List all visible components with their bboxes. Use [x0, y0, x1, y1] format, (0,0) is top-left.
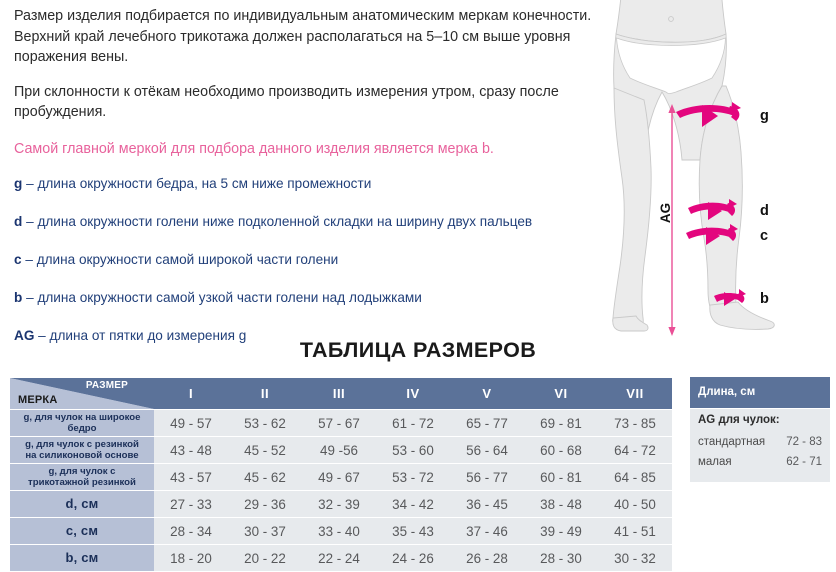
- cell-value: 53 - 72: [376, 464, 450, 490]
- table-row: c, см 28 - 34 30 - 37 33 - 40 35 - 43 37…: [10, 518, 672, 544]
- row-label-line: g, для чулок с резинкой: [16, 439, 148, 451]
- cell-value: 43 - 57: [154, 464, 228, 490]
- cell-value: 61 - 72: [376, 410, 450, 436]
- legend-dash-b: –: [26, 290, 34, 305]
- row-label-b: b, см: [10, 545, 154, 571]
- length-row-small: малая 62 - 71: [698, 456, 822, 468]
- legend-text-c: длина окружности самой широкой части гол…: [37, 252, 339, 267]
- cell-value: 30 - 32: [598, 545, 672, 571]
- legend-key-d: d: [14, 214, 22, 229]
- cell-value: 28 - 34: [154, 518, 228, 544]
- row-label-line: бедро: [16, 423, 148, 435]
- legend-dash-d: –: [26, 214, 34, 229]
- row-label-g-silicone-band: g, для чулок с резинкой на силиконовой о…: [10, 437, 154, 463]
- cell-value: 45 - 62: [228, 464, 302, 490]
- length-row-value: 72 - 83: [786, 436, 822, 448]
- cell-value: 43 - 48: [154, 437, 228, 463]
- legend-item-b: b – длина окружности самой узкой части г…: [14, 288, 610, 307]
- cell-value: 28 - 30: [524, 545, 598, 571]
- cell-value: 33 - 40: [302, 518, 376, 544]
- intro-paragraph-1: Размер изделия подбирается по индивидуал…: [14, 6, 610, 68]
- legend-key-c: c: [14, 252, 22, 267]
- cell-value: 29 - 36: [228, 491, 302, 517]
- column-header-4: IV: [376, 378, 450, 409]
- length-panel-subtitle: AG для чулок:: [698, 414, 822, 426]
- row-label-d: d, см: [10, 491, 154, 517]
- cell-value: 60 - 81: [524, 464, 598, 490]
- length-row-standard: стандартная 72 - 83: [698, 436, 822, 448]
- length-side-panel: Длина, см AG для чулок: стандартная 72 -…: [690, 377, 830, 482]
- length-panel-body: AG для чулок: стандартная 72 - 83 малая …: [690, 409, 830, 482]
- legend-text-b: длина окружности самой узкой части голен…: [37, 290, 421, 305]
- page-title: ТАБЛИЦА РАЗМЕРОВ: [0, 338, 836, 363]
- column-header-2: II: [228, 378, 302, 409]
- cell-value: 49 - 67: [302, 464, 376, 490]
- legend-item-c: c – длина окружности самой широкой части…: [14, 250, 610, 269]
- cell-value: 22 - 24: [302, 545, 376, 571]
- row-label-line: трикотажной резинкой: [16, 477, 148, 489]
- cell-value: 37 - 46: [450, 518, 524, 544]
- cell-value: 36 - 45: [450, 491, 524, 517]
- row-label-c: c, см: [10, 518, 154, 544]
- length-panel-header: Длина, см: [690, 377, 830, 408]
- table-corner-cell: РАЗМЕР МЕРКА: [10, 378, 154, 409]
- legend-text-g: длина окружности бедра, на 5 см ниже про…: [37, 176, 371, 191]
- cell-value: 73 - 85: [598, 410, 672, 436]
- d-label: d: [760, 203, 769, 219]
- legend-text-d: длина окружности голени ниже подколенной…: [37, 214, 532, 229]
- female-body-silhouette: [613, 0, 775, 331]
- measurement-illustration: AG g d c: [600, 0, 836, 340]
- ag-label: AG: [658, 203, 673, 223]
- cell-value: 60 - 68: [524, 437, 598, 463]
- legend-key-b: b: [14, 290, 22, 305]
- legend-dash-g: –: [26, 176, 34, 191]
- cell-value: 34 - 42: [376, 491, 450, 517]
- column-header-6: VI: [524, 378, 598, 409]
- cell-value: 53 - 62: [228, 410, 302, 436]
- g-label: g: [760, 108, 769, 124]
- corner-measure-label: МЕРКА: [18, 394, 58, 406]
- c-label: c: [760, 228, 768, 244]
- cell-value: 40 - 50: [598, 491, 672, 517]
- table-row: b, см 18 - 20 20 - 22 22 - 24 24 - 26 26…: [10, 545, 672, 571]
- cell-value: 45 - 52: [228, 437, 302, 463]
- column-header-7: VII: [598, 378, 672, 409]
- column-header-1: I: [154, 378, 228, 409]
- cell-value: 32 - 39: [302, 491, 376, 517]
- cell-value: 56 - 77: [450, 464, 524, 490]
- cell-value: 30 - 37: [228, 518, 302, 544]
- column-header-3: III: [302, 378, 376, 409]
- legend-key-g: g: [14, 176, 22, 191]
- table-row: g, для чулок на широкое бедро 49 - 57 53…: [10, 410, 672, 436]
- table-row: g, для чулок с резинкой на силиконовой о…: [10, 437, 672, 463]
- cell-value: 41 - 51: [598, 518, 672, 544]
- cell-value: 26 - 28: [450, 545, 524, 571]
- cell-value: 39 - 49: [524, 518, 598, 544]
- key-measurement-note: Самой главной меркой для подбора данного…: [14, 139, 610, 159]
- cell-value: 49 -56: [302, 437, 376, 463]
- cell-value: 56 - 64: [450, 437, 524, 463]
- table-row: d, см 27 - 33 29 - 36 32 - 39 34 - 42 36…: [10, 491, 672, 517]
- corner-size-label: РАЗМЕР: [86, 380, 128, 391]
- b-label: b: [760, 291, 769, 307]
- row-label-g-wide-thigh: g, для чулок на широкое бедро: [10, 410, 154, 436]
- row-label-g-knit-band: g, для чулок с трикотажной резинкой: [10, 464, 154, 490]
- column-header-5: V: [450, 378, 524, 409]
- table-row: g, для чулок с трикотажной резинкой 43 -…: [10, 464, 672, 490]
- intro-text-column: Размер изделия подбирается по индивидуал…: [14, 6, 610, 364]
- row-label-line: g, для чулок с: [16, 466, 148, 478]
- cell-value: 53 - 60: [376, 437, 450, 463]
- cell-value: 27 - 33: [154, 491, 228, 517]
- size-table-header-row: РАЗМЕР МЕРКА I II III IV V VI VII: [10, 378, 672, 409]
- legend-dash-c: –: [25, 252, 33, 267]
- length-row-value: 62 - 71: [786, 456, 822, 468]
- length-row-name: стандартная: [698, 436, 765, 448]
- legend-item-d: d – длина окружности голени ниже подколе…: [14, 212, 610, 231]
- cell-value: 49 - 57: [154, 410, 228, 436]
- length-row-name: малая: [698, 456, 732, 468]
- cell-value: 38 - 48: [524, 491, 598, 517]
- cell-value: 65 - 77: [450, 410, 524, 436]
- cell-value: 69 - 81: [524, 410, 598, 436]
- intro-paragraph-2: При склонности к отёкам необходимо произ…: [14, 82, 610, 123]
- row-label-line: g, для чулок на широкое: [16, 412, 148, 424]
- cell-value: 20 - 22: [228, 545, 302, 571]
- size-table: РАЗМЕР МЕРКА I II III IV V VI VII g, для…: [10, 377, 672, 572]
- cell-value: 24 - 26: [376, 545, 450, 571]
- cell-value: 64 - 72: [598, 437, 672, 463]
- row-label-line: на силиконовой основе: [16, 450, 148, 462]
- cell-value: 35 - 43: [376, 518, 450, 544]
- cell-value: 57 - 67: [302, 410, 376, 436]
- legend-item-g: g – длина окружности бедра, на 5 см ниже…: [14, 174, 610, 193]
- cell-value: 64 - 85: [598, 464, 672, 490]
- cell-value: 18 - 20: [154, 545, 228, 571]
